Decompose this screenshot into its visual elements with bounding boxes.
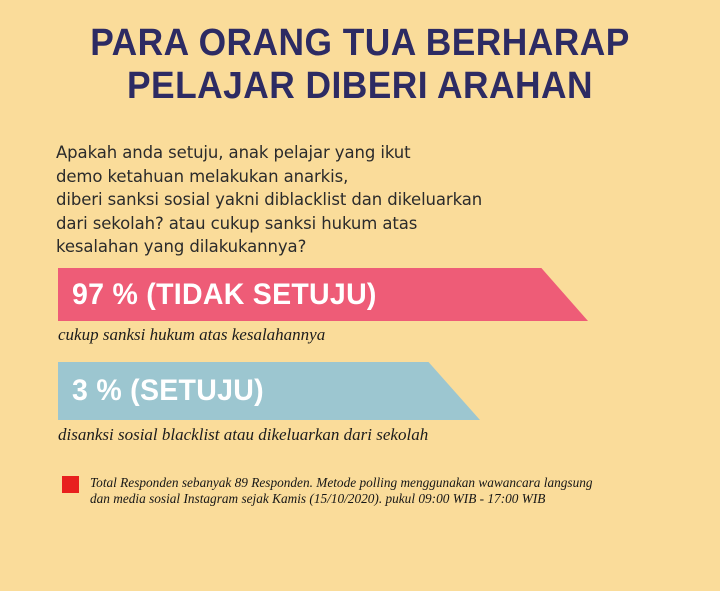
caption-tidak-setuju: cukup sanksi hukum atas kesalahannya: [58, 325, 325, 345]
question-line-3: diberi sanksi sosial yakni diblacklist d…: [56, 188, 656, 212]
methodology-line-1: Total Responden sebanyak 89 Responden. M…: [90, 475, 593, 491]
question-line-4: dari sekolah? atau cukup sanksi hukum at…: [56, 212, 656, 236]
methodology-note: Total Responden sebanyak 89 Responden. M…: [62, 475, 692, 506]
bar-label-tidak-setuju: 97 % (TIDAK SETUJU): [72, 278, 377, 312]
result-bar-setuju: 3 % (SETUJU): [58, 362, 480, 420]
bar-label-setuju: 3 % (SETUJU): [72, 374, 264, 408]
red-square-bullet-icon: [62, 476, 79, 493]
methodology-line-2: dan media sosial Instagram sejak Kamis (…: [90, 491, 593, 507]
question-line-2: demo ketahuan melakukan anarkis,: [56, 165, 656, 189]
caption-setuju: disanksi sosial blacklist atau dikeluark…: [58, 425, 428, 445]
result-bar-tidak-setuju: 97 % (TIDAK SETUJU): [58, 268, 588, 321]
title-line-1: PARA ORANG TUA BERHARAP: [25, 22, 695, 65]
question-line-1: Apakah anda setuju, anak pelajar yang ik…: [56, 141, 656, 165]
methodology-text: Total Responden sebanyak 89 Responden. M…: [90, 475, 593, 506]
page-title: PARA ORANG TUA BERHARAP PELAJAR DIBERI A…: [0, 22, 720, 108]
question-line-5: kesalahan yang dilakukannya?: [56, 235, 656, 259]
poll-question: Apakah anda setuju, anak pelajar yang ik…: [56, 141, 656, 259]
title-line-2: PELAJAR DIBERI ARAHAN: [25, 65, 695, 108]
